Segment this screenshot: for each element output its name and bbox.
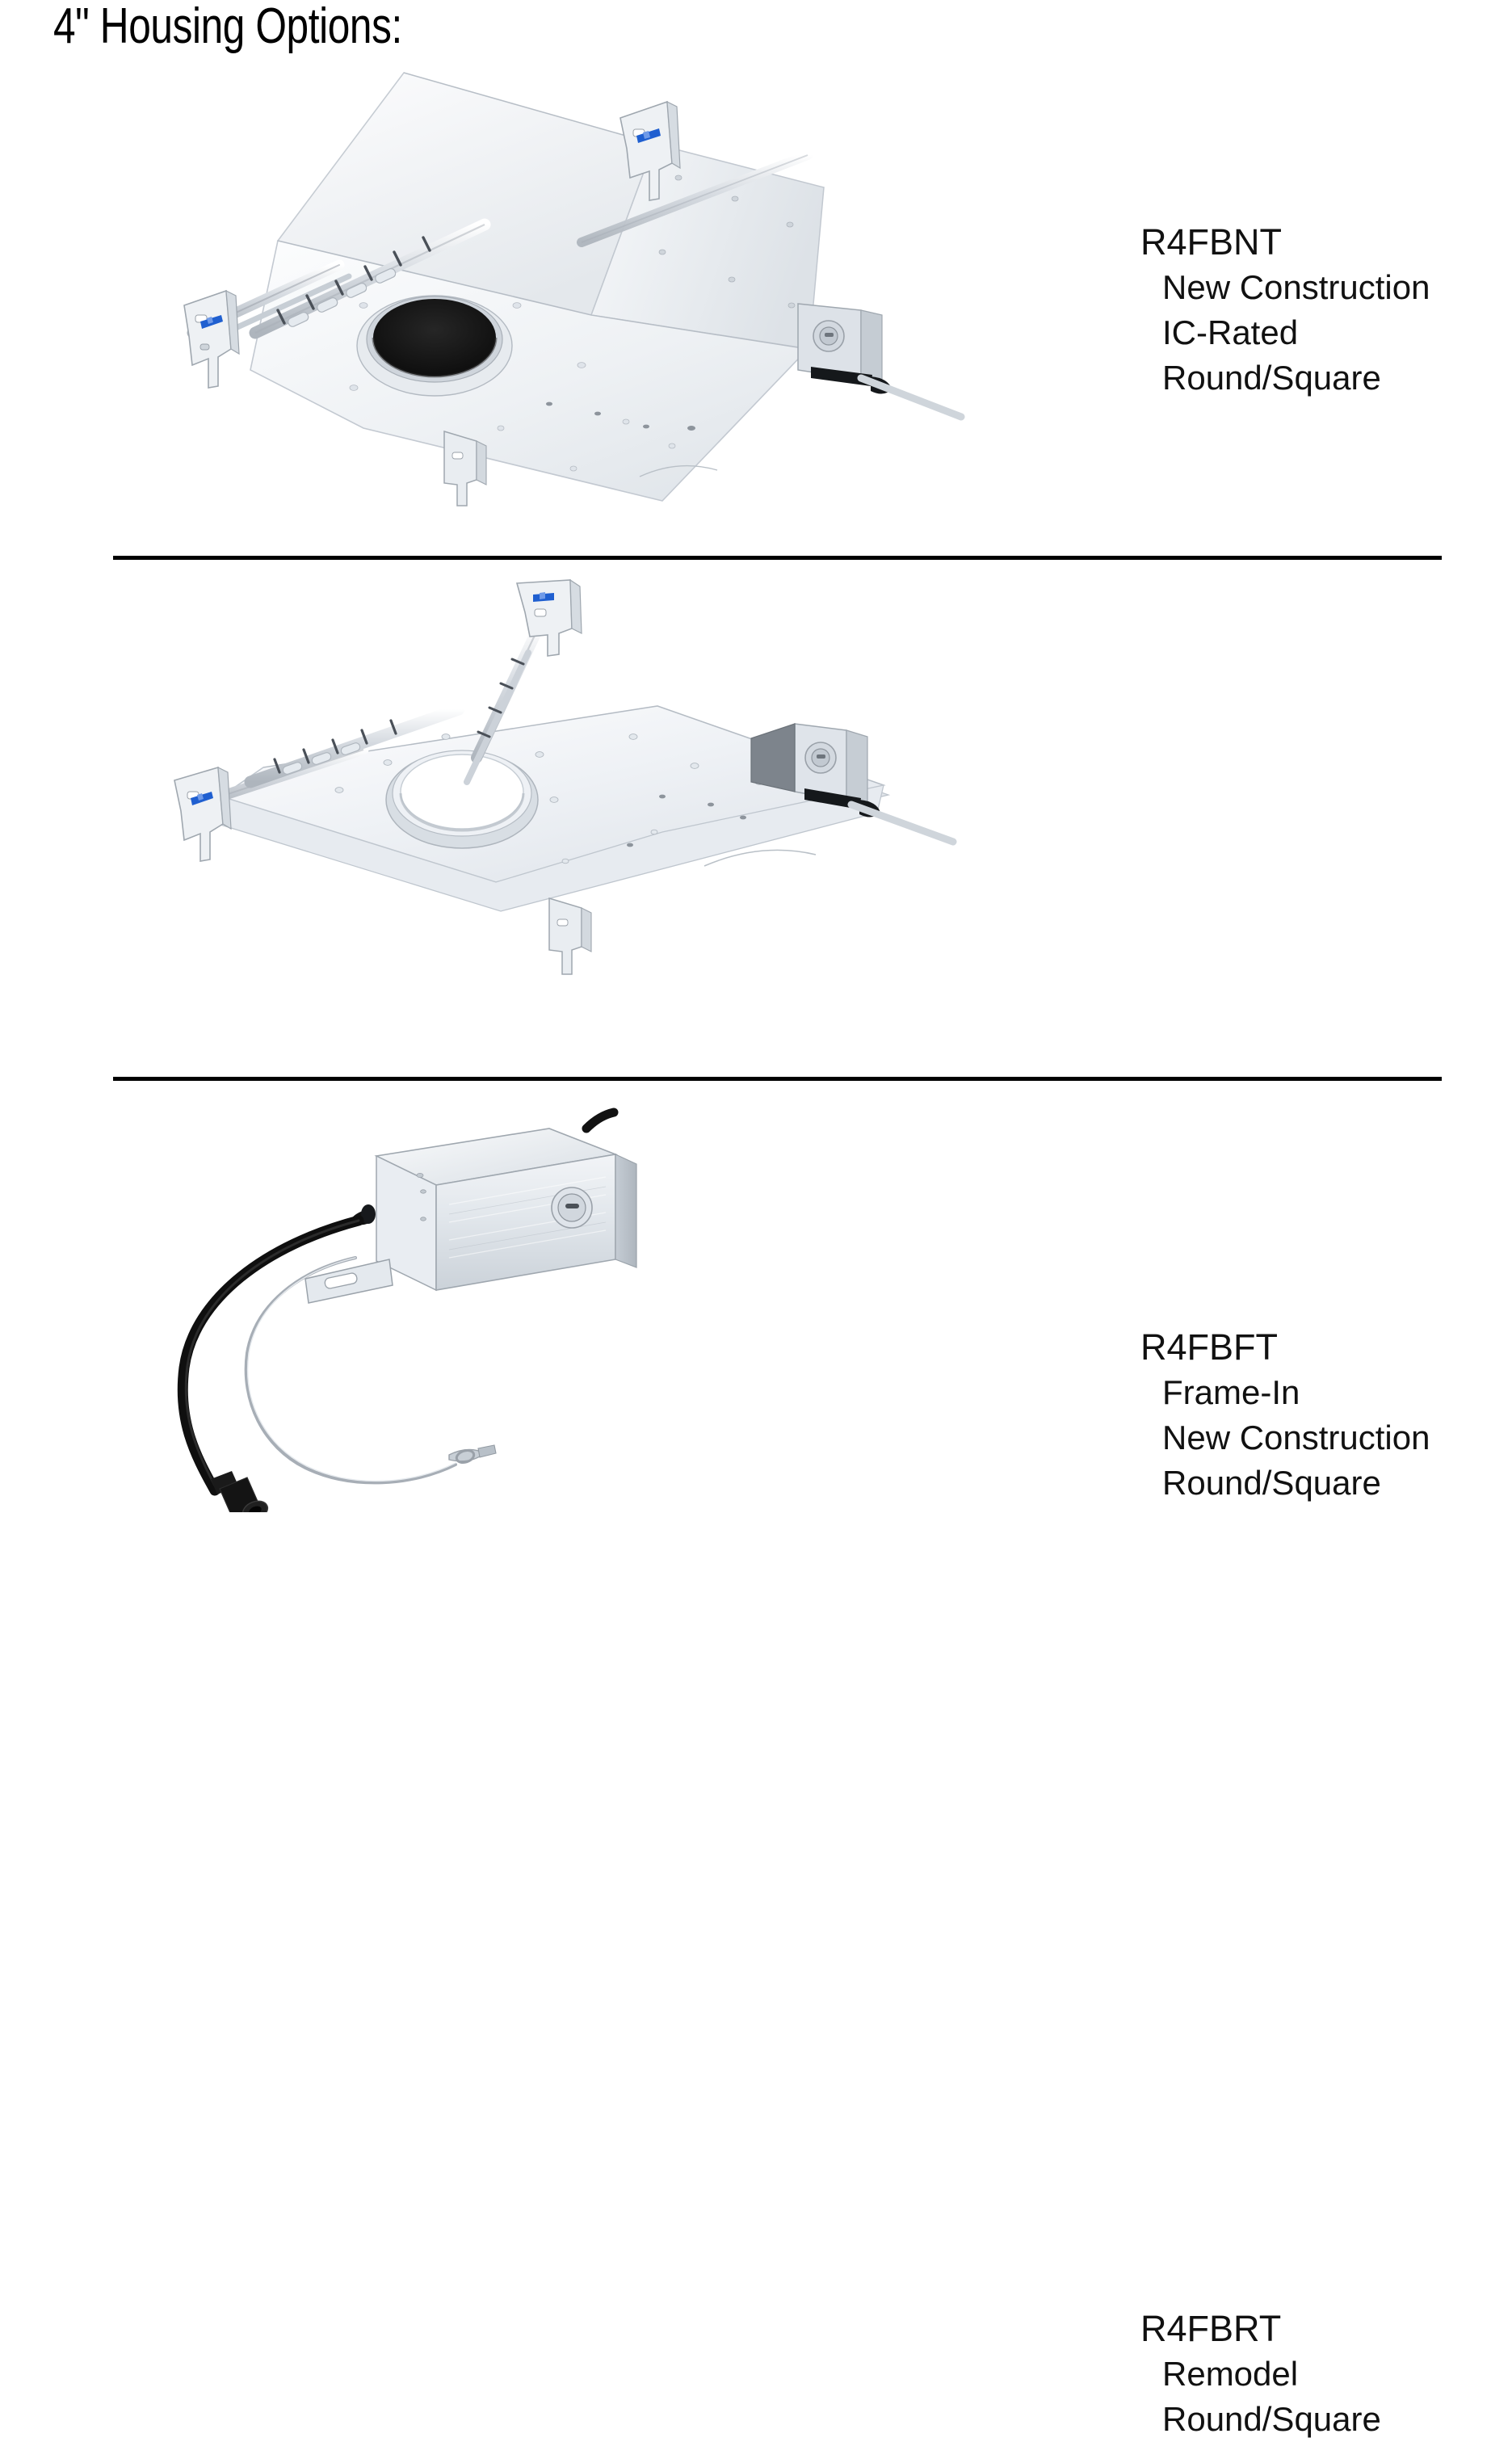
- product-desc-line: Round/Square: [1162, 355, 1512, 401]
- aperture-opening: [357, 296, 512, 396]
- model-code-r4fbrt: R4FBRT: [1140, 2306, 1512, 2352]
- product-row-r4fbft: R4FBFT Frame-In New Construction Round/S…: [0, 565, 1512, 1074]
- product-row-r4fbrt: R4FBRT Remodel Round/Square: [0, 1087, 1512, 1512]
- product-image-frame-in-new-construction-plate: [97, 565, 1050, 1074]
- quick-connector: [211, 1471, 271, 1512]
- mounting-bracket-bottom: [549, 898, 591, 974]
- product-desc-line: IC-Rated: [1162, 310, 1512, 355]
- side-rail-right: [851, 805, 953, 842]
- safety-cable: [246, 1258, 496, 1482]
- product-desc-line: Remodel: [1162, 2352, 1512, 2397]
- junction-box-right: [798, 304, 892, 394]
- section-divider-2: [113, 1077, 1442, 1081]
- box-right-end: [615, 1154, 636, 1267]
- aperture-opening: [386, 750, 538, 848]
- product-image-ic-rated-new-construction-housing: [97, 48, 1050, 557]
- side-rail-right: [861, 378, 961, 417]
- page-title: 4" Housing Options:: [53, 2, 402, 52]
- housing-options-page: 4" Housing Options:: [0, 0, 1512, 1512]
- product-labels-r4fbrt: R4FBRT Remodel Round/Square: [1140, 2306, 1512, 2442]
- product-desc-line: New Construction: [1162, 265, 1512, 310]
- product-row-r4fbnt: R4FBNT New Construction IC-Rated Round/S…: [0, 48, 1512, 557]
- product-labels-r4fbnt: R4FBNT New Construction IC-Rated Round/S…: [1140, 220, 1512, 401]
- mounting-tab: [305, 1259, 393, 1303]
- mounting-bracket-bottom: [444, 431, 486, 506]
- product-image-remodel-junction-box: [97, 1087, 1050, 1512]
- section-divider-1: [113, 556, 1442, 560]
- model-code-r4fbnt: R4FBNT: [1140, 220, 1512, 265]
- product-desc-line: Round/Square: [1162, 2397, 1512, 2442]
- t-bar-clip-left: [174, 767, 231, 861]
- top-cable-stub: [586, 1112, 614, 1129]
- knockout-front: [552, 1187, 592, 1228]
- t-bar-clip-left: [184, 291, 239, 388]
- safety-cable-loop: [449, 1445, 496, 1465]
